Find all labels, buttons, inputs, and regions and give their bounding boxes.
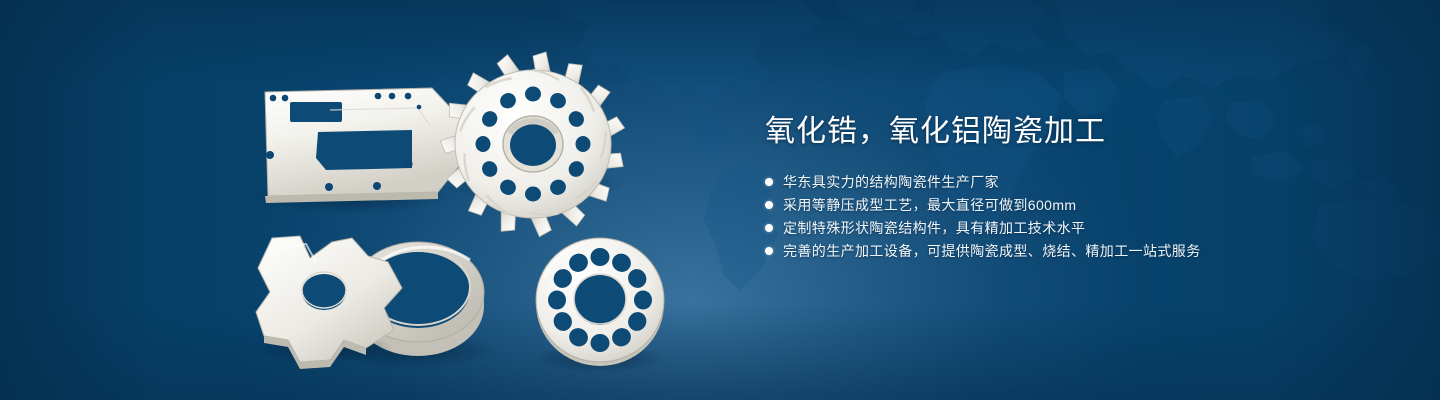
product-ceramic-plate: [248, 88, 462, 214]
bullet-dot-icon: [765, 178, 773, 186]
product-ceramic-impeller: [440, 52, 626, 238]
bullet-dot-icon: [765, 224, 773, 232]
product-photo-cluster: [0, 0, 740, 400]
list-item: 定制特殊形状陶瓷结构件，具有精加工技术水平: [765, 220, 1365, 236]
list-item: 完善的生产加工设备，可提供陶瓷成型、烧结、精加工一站式服务: [765, 243, 1365, 259]
feature-text: 完善的生产加工设备，可提供陶瓷成型、烧结、精加工一站式服务: [783, 243, 1201, 259]
list-item: 华东具实力的结构陶瓷件生产厂家: [765, 174, 1365, 190]
bullet-dot-icon: [765, 201, 773, 209]
feature-list: 华东具实力的结构陶瓷件生产厂家 采用等静压成型工艺，最大直径可做到600mm 定…: [765, 174, 1365, 259]
feature-text: 定制特殊形状陶瓷结构件，具有精加工技术水平: [783, 220, 1085, 236]
banner-copy: 氧化锆，氧化铝陶瓷加工 华东具实力的结构陶瓷件生产厂家 采用等静压成型工艺，最大…: [765, 112, 1365, 266]
feature-text: 华东具实力的结构陶瓷件生产厂家: [783, 174, 999, 190]
product-ceramic-perforated-disc: [534, 238, 666, 373]
bullet-dot-icon: [765, 247, 773, 255]
page-title: 氧化锆，氧化铝陶瓷加工: [765, 112, 1365, 152]
list-item: 采用等静压成型工艺，最大直径可做到600mm: [765, 197, 1365, 213]
hero-banner: 氧化锆，氧化铝陶瓷加工 华东具实力的结构陶瓷件生产厂家 采用等静压成型工艺，最大…: [0, 0, 1440, 400]
feature-text: 采用等静压成型工艺，最大直径可做到600mm: [783, 197, 1076, 213]
